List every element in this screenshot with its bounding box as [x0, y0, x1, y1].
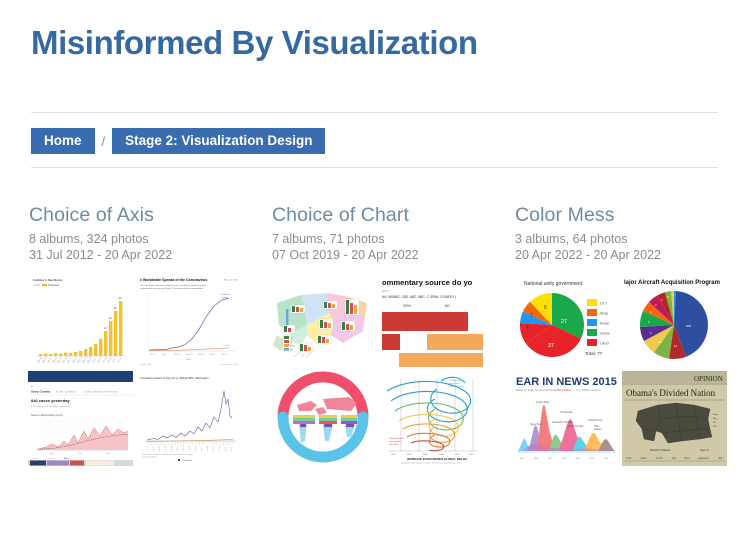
- svg-text:Maybe: Maybe: [290, 346, 295, 348]
- svg-text:UTJ: UTJ: [600, 302, 607, 306]
- svg-text:Jun 10: Jun 10: [207, 446, 209, 451]
- svg-text:Jul 1: Jul 1: [225, 447, 227, 451]
- svg-text:Apr 22: Apr 22: [164, 446, 167, 451]
- svg-text:Jul 8: Jul 8: [231, 447, 233, 451]
- svg-text:Degraded forest: Degraded forest: [389, 437, 404, 440]
- svg-text:50: 50: [445, 303, 450, 308]
- breadcrumb-item-stage-2[interactable]: Stage 2: Visualization Design: [112, 128, 325, 154]
- svg-text:Likud: Likud: [600, 342, 609, 346]
- svg-text:Apr 15: Apr 15: [158, 446, 161, 451]
- svg-text:as reported daily: as reported daily: [142, 456, 156, 459]
- album-dates: 20 Apr 2022 - 20 Apr 2022: [515, 248, 726, 264]
- svg-text:North Carolina: North Carolina: [56, 390, 76, 394]
- svg-text:Donald Trump: Donald Trump: [588, 419, 603, 422]
- svg-text:map: map: [672, 457, 677, 460]
- svg-text:Cases in Mecklenburg County: Cases in Mecklenburg County: [31, 414, 64, 417]
- year-in-news-title: EAR IN NEWS 2015: [516, 376, 617, 388]
- svg-text:Yes: Yes: [290, 338, 293, 340]
- svg-text:The Election: The Election: [560, 411, 573, 414]
- album-counts: 8 albums, 324 photos: [29, 232, 240, 248]
- pie-aircraft-title: lajor Aircraft Acquisition Program: [624, 280, 720, 286]
- svg-text:Tie: Tie: [713, 421, 716, 424]
- album-card-choice-of-chart: Choice of Chart 7 albums, 71 photos 07 O…: [271, 203, 483, 466]
- svg-text:May 27: May 27: [195, 445, 197, 451]
- svg-text:about 1% a year: about 1% a year: [449, 385, 464, 388]
- svg-text:Feb 10: Feb 10: [174, 354, 181, 356]
- svg-text:60.4 million: 60.4 million: [558, 388, 572, 392]
- album-card-color-mess: Color Mess 3 albums, 64 photos 20 Apr 20…: [514, 203, 726, 466]
- svg-text:United States of America: United States of America: [84, 390, 117, 394]
- svg-text:basin loses: basin loses: [449, 383, 459, 385]
- breadcrumb-separator: /: [95, 134, 113, 149]
- svg-text:Jun 17: Jun 17: [213, 446, 215, 451]
- album-grid: Choice of Axis 8 albums, 324 photos 31 J…: [28, 203, 728, 466]
- svg-text:Mar: Mar: [534, 457, 538, 460]
- svg-text:Feb 19: Feb 19: [186, 354, 193, 356]
- svg-text:Apr 29: Apr 29: [170, 446, 173, 451]
- svg-text:45%: 45%: [686, 324, 692, 328]
- svg-text:comes: comes: [640, 457, 647, 460]
- svg-text:Oct: Oct: [590, 457, 594, 460]
- album-gallery-page: Misinformed By Visualization Home / Stag…: [0, 0, 749, 553]
- svg-text:Feb 1: Feb 1: [162, 354, 168, 356]
- svg-text:2017.: 2017.: [382, 289, 390, 293]
- album-dates: 31 Jul 2012 - 20 Apr 2022: [29, 248, 240, 264]
- svg-text:Oscars Party: Oscars Party: [536, 401, 550, 404]
- album-thumbnails: National unity government 6 7 4 27: [514, 273, 726, 466]
- svg-text:27: 27: [561, 319, 567, 325]
- svg-text:after 2000: after 2000: [389, 443, 399, 446]
- svg-text:Based on 2015, we scanned thro: Based on 2015, we scanned through: [516, 388, 559, 392]
- svg-text:Fatalities in New Mexico: Fatalities in New Mexico: [33, 278, 63, 282]
- svg-text:Apr 8: Apr 8: [152, 447, 155, 451]
- album-title[interactable]: Color Mess: [515, 203, 726, 227]
- svg-text:Attacks: Attacks: [594, 428, 602, 431]
- svg-text:exponentially over the past we: exponentially over the past weeks. The d…: [140, 287, 204, 290]
- obama-map-title: Obama's Divided Nation: [626, 388, 716, 398]
- svg-text:The cumulative number of confi: The cumulative number of confirmed cases…: [140, 284, 207, 287]
- svg-text:846 cases yesterday: 846 cases yesterday: [31, 398, 70, 403]
- svg-text:Paris: Paris: [594, 425, 600, 428]
- album-title[interactable]: Choice of Chart: [272, 203, 483, 227]
- divider-bottom: [31, 167, 718, 168]
- svg-text:Coronavirus Trends: Coronavirus Trends: [220, 364, 237, 366]
- album-thumbnails: Fatalities in New Mexico Projected: [28, 273, 240, 466]
- svg-text:Projected: Projected: [48, 283, 60, 287]
- svg-text:Chart shows cumulative volume: Chart shows cumulative volume of confirm…: [142, 453, 193, 456]
- album-card-choice-of-axis: Choice of Axis 8 albums, 324 photos 31 J…: [28, 203, 240, 466]
- svg-text:Mar. 18, 2020: Mar. 18, 2020: [224, 279, 238, 282]
- svg-text:Cumulative Volume of Sep 1% vs: Cumulative Volume of Sep 1% vs. Bothell …: [140, 376, 209, 380]
- svg-text:7: 7: [530, 313, 533, 319]
- svg-text:6: 6: [544, 305, 547, 311]
- thumb-bar-chart-fatalities[interactable]: Fatalities in New Mexico Projected: [28, 273, 133, 368]
- svg-text:May 20: May 20: [189, 445, 191, 451]
- svg-text:Date: Date: [186, 358, 191, 361]
- breadcrumb: Home / Stage 2: Visualization Design: [31, 128, 325, 154]
- svg-text:Jun 24: Jun 24: [219, 446, 221, 451]
- svg-text:No: No: [290, 342, 292, 344]
- thumb-world-map-ring[interactable]: [271, 371, 376, 466]
- album-counts: 7 albums, 71 photos: [272, 232, 483, 248]
- svg-text:May 6: May 6: [177, 446, 179, 451]
- svg-text:Deaths: Deaths: [223, 344, 231, 347]
- album-counts: 3 albums, 64 photos: [515, 232, 726, 248]
- thumb-pie-aircraft-program[interactable]: lajor Aircraft Acquisition Program: [622, 273, 727, 368]
- svg-text:World Cup Win: World Cup Win: [568, 425, 584, 428]
- svg-text:Land: Land: [626, 457, 632, 460]
- thumb-news-commentary-bars[interactable]: ommentary source do yo 2017. NN, MSNBC, …: [379, 273, 484, 368]
- thumb-pie-national-unity[interactable]: National unity government 6 7 4 27: [514, 273, 619, 368]
- svg-text:Feb 28: Feb 28: [198, 354, 205, 356]
- pie-unity-title: National unity government: [524, 281, 583, 287]
- thumb-cumulative-covid-line[interactable]: Cumulative Volume of Sep 1% vs. Bothell …: [136, 371, 241, 466]
- svg-text:Jun: Jun: [562, 457, 567, 460]
- svg-text:Jun 3: Jun 3: [201, 447, 203, 451]
- svg-text:Mar 17: Mar 17: [222, 354, 229, 356]
- svg-text:Source: JHU: Source: JHU: [140, 364, 152, 366]
- svg-text:N/A: N/A: [713, 425, 717, 428]
- svg-text:population: population: [698, 457, 710, 460]
- svg-text:News: News: [684, 457, 690, 460]
- thumb-coronavirus-spread-line[interactable]: e Worldwide Spread of the Coronavirus Ma…: [136, 273, 241, 368]
- svg-text:Mar 8: Mar 8: [210, 354, 216, 356]
- svg-text:shift: shift: [718, 457, 723, 460]
- svg-text:U.S. Twitter mentions: U.S. Twitter mentions: [576, 388, 601, 392]
- svg-text:Dem: Dem: [713, 413, 718, 416]
- thumb-obama-divided-nation[interactable]: OPINION Obama's Divided Nation: [622, 371, 727, 466]
- svg-text:to new: to new: [656, 457, 663, 460]
- svg-text:Deaths: Deaths: [48, 457, 54, 460]
- page-title: Misinformed By Visualization: [31, 24, 478, 62]
- svg-text:Obama Winners: Obama Winners: [650, 448, 671, 452]
- svg-text:NN, MSNBC, CBS, ABC, NBC, C-SP: NN, MSNBC, CBS, ABC, NBC, C-SPAN, COMEDY…: [382, 295, 457, 299]
- svg-text:Cases: Cases: [32, 458, 38, 460]
- svg-text:Super Bowl: Super Bowl: [530, 423, 542, 426]
- news-bars-title: ommentary source do yo: [382, 278, 473, 287]
- divider-top: [31, 112, 718, 113]
- svg-text:Ad: Ad: [31, 385, 33, 388]
- svg-text:Mar: Mar: [50, 452, 54, 455]
- svg-text:Sept. 8: Sept. 8: [700, 448, 709, 452]
- album-title[interactable]: Choice of Axis: [29, 203, 240, 227]
- svg-text:Shas: Shas: [600, 312, 608, 316]
- svg-text:e Worldwide Spread of the Coro: e Worldwide Spread of the Coronavirus: [140, 278, 207, 282]
- svg-text:The Amazon: The Amazon: [449, 379, 462, 382]
- svg-text:Jan 22: Jan 22: [150, 354, 157, 356]
- svg-text:25%: 25%: [403, 303, 411, 308]
- breadcrumb-item-home[interactable]: Home: [31, 128, 95, 154]
- svg-text:37: 37: [548, 343, 554, 349]
- album-thumbnails: YesNo MaybeN/A Strongly Agree Neutral: [271, 273, 483, 466]
- thumb-spiral-flow-diagram[interactable]: The Amazon basin loses about 1% a year D…: [379, 371, 484, 466]
- svg-text:Cumulative: Cumulative: [182, 459, 193, 462]
- svg-text:Charleston Shooting: Charleston Shooting: [552, 421, 574, 424]
- svg-text:Aug: Aug: [576, 457, 581, 460]
- thumb-county-cases-area[interactable]: Ad Surry County North Carolina United St…: [28, 371, 133, 466]
- svg-text:Confirmed: Confirmed: [220, 293, 231, 296]
- svg-text:Apr: Apr: [548, 457, 552, 460]
- svg-text:Zionis: Zionis: [600, 332, 610, 336]
- thumb-year-in-news-ridgeline[interactable]: EAR IN NEWS 2015 Based on 2015, we scann…: [514, 371, 619, 466]
- svg-text:INCREASE IN DEGRADED GLOBAL FI: INCREASE IN DEGRADED GLOBAL FIELDS: [407, 457, 467, 461]
- svg-text:4,123 cases / 110 per 100K - n: 4,123 cases / 110 per 100K - new cases: [31, 405, 71, 408]
- svg-text:cases: cases: [222, 297, 229, 299]
- svg-text:Apr 1: Apr 1: [146, 447, 149, 451]
- svg-text:Kulan: Kulan: [600, 322, 609, 326]
- svg-text:rises sharply: rises sharply: [389, 440, 402, 443]
- svg-text:Cumulative total change in hec: Cumulative total change in hectares of f…: [401, 462, 461, 465]
- svg-text:4: 4: [526, 325, 529, 331]
- thumb-us-map-bar-overlay[interactable]: YesNo MaybeN/A Strongly Agree Neutral: [271, 273, 376, 368]
- svg-text:Surry County: Surry County: [31, 390, 50, 394]
- svg-text:Jan: Jan: [520, 457, 525, 460]
- album-dates: 07 Oct 2019 - 20 Apr 2022: [272, 248, 483, 264]
- svg-text:May 13: May 13: [183, 445, 185, 451]
- svg-text:Total: 77: Total: 77: [585, 351, 603, 356]
- newspaper-section: OPINION: [694, 375, 723, 383]
